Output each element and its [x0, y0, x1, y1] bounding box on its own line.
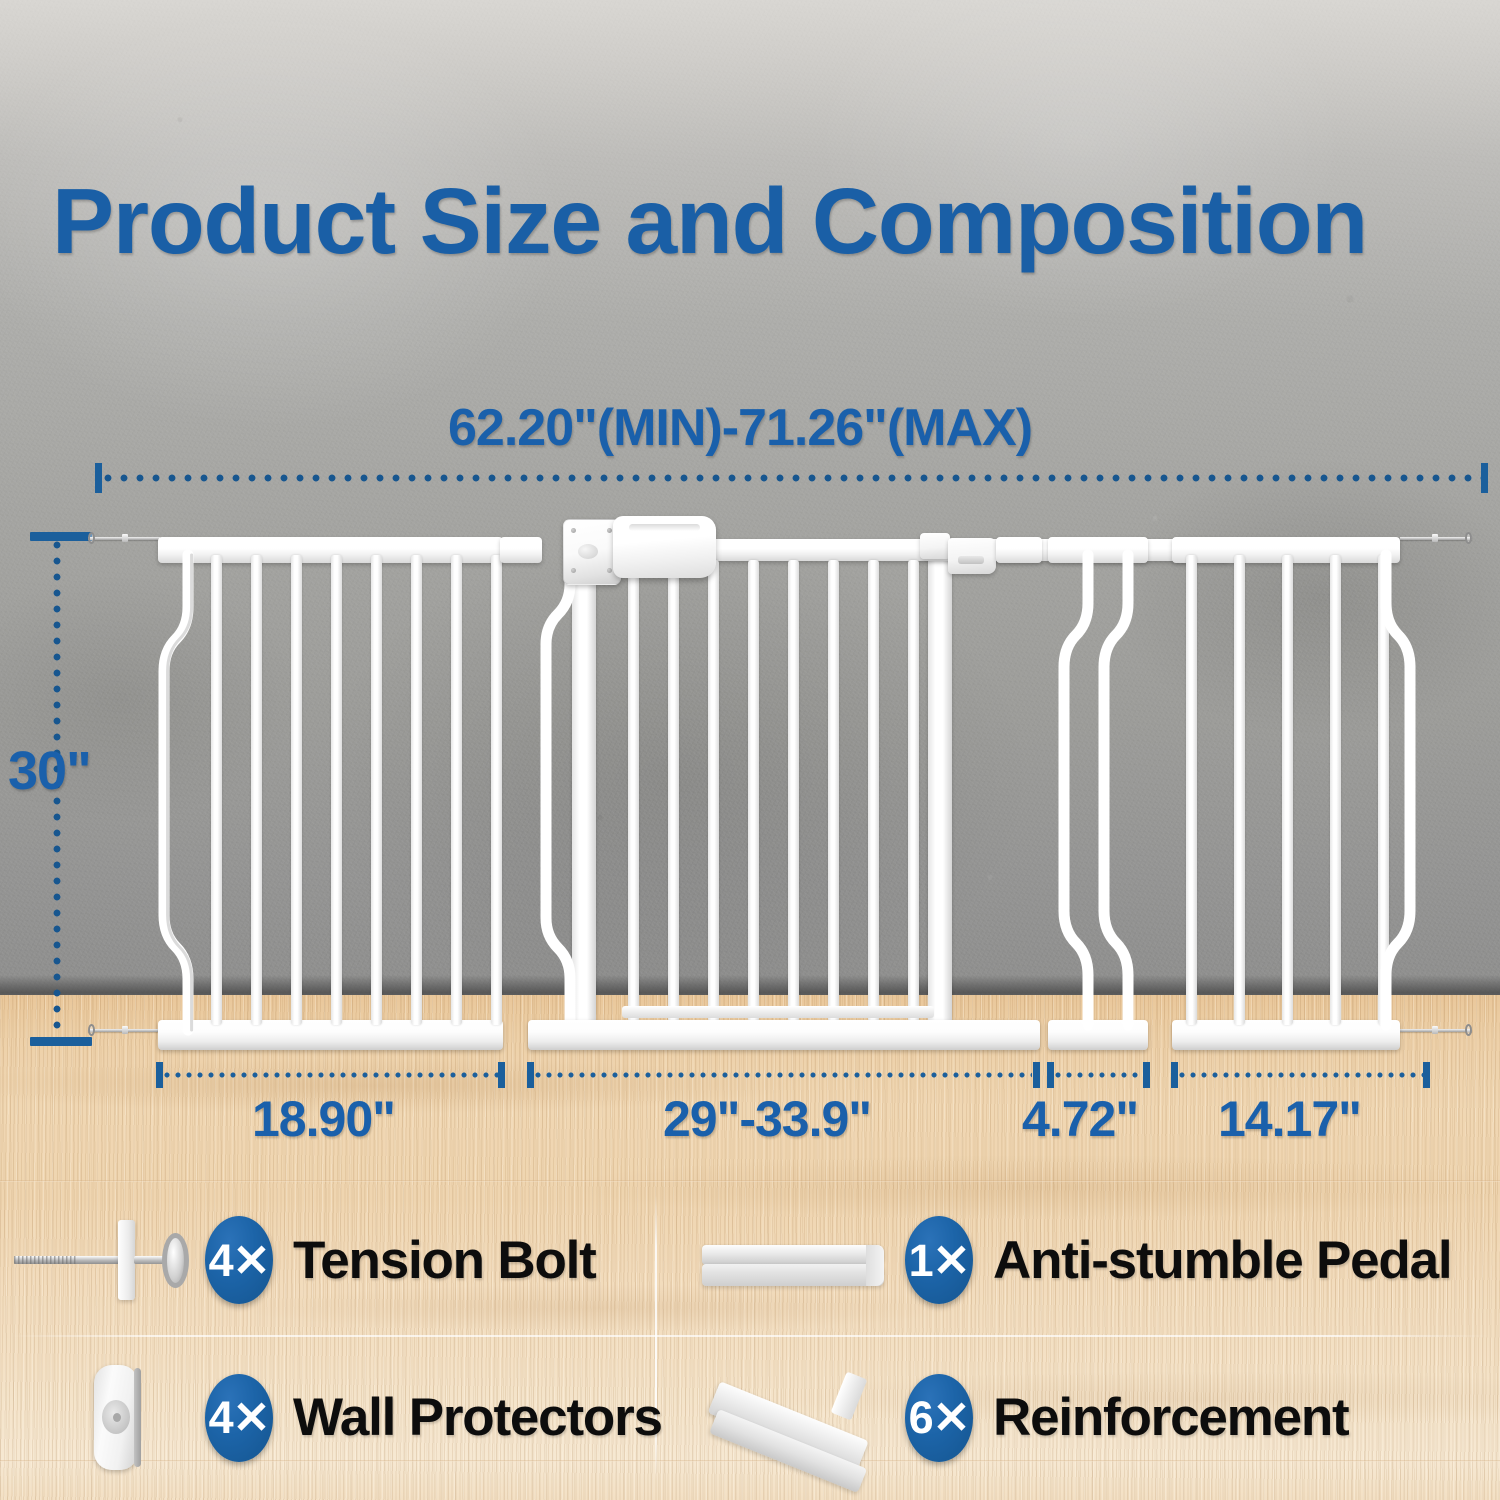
anti-stumble-pedal-icon	[690, 1215, 905, 1305]
seg3-endcap-left	[1047, 1062, 1054, 1088]
seg1-endcap-right	[498, 1062, 505, 1088]
tension-bolt-icon	[10, 1215, 205, 1305]
overall-width-dimension-line	[104, 474, 1484, 482]
seg3-label: 4.72"	[1022, 1090, 1138, 1148]
dim-endcap-left	[95, 463, 102, 493]
legend-item-reinforcement: 6✕ Reinforcement	[690, 1360, 1348, 1475]
wall-protector-icon	[10, 1360, 205, 1475]
seg2-endcap-right	[1033, 1062, 1040, 1088]
wall-protectors-quantity-badge: 4✕	[205, 1374, 273, 1462]
seg3-dimension-line	[1055, 1072, 1143, 1078]
seg2-dimension-line	[535, 1072, 1032, 1078]
reinforcement-label: Reinforcement	[993, 1387, 1348, 1448]
seg4-endcap-left	[1171, 1062, 1178, 1088]
wall-protectors-label: Wall Protectors	[293, 1387, 662, 1448]
seg2-endcap-left	[527, 1062, 534, 1088]
anti-stumble-pedal-quantity-badge: 1✕	[905, 1216, 973, 1304]
overall-width-label: 62.20"(MIN)-71.26"(MAX)	[448, 398, 1032, 458]
legend-item-anti-stumble-pedal: 1✕ Anti-stumble Pedal	[690, 1215, 1451, 1305]
height-dim-endcap-top	[30, 532, 92, 541]
reinforcement-icon	[690, 1360, 905, 1475]
reinforcement-quantity-badge: 6✕	[905, 1374, 973, 1462]
seg1-label: 18.90"	[252, 1090, 395, 1148]
tension-bolt-quantity-badge: 4✕	[205, 1216, 273, 1304]
seg1-endcap-left	[156, 1062, 163, 1088]
legend-item-wall-protectors: 4✕ Wall Protectors	[10, 1360, 662, 1475]
wall-floor-shadow-line	[0, 975, 1500, 997]
legend-horizontal-divider	[10, 1335, 1490, 1337]
height-label: 30"	[8, 740, 91, 802]
badge-text: 1✕	[909, 1234, 970, 1287]
seg4-endcap-right	[1423, 1062, 1430, 1088]
dim-endcap-right	[1481, 463, 1488, 493]
seg3-endcap-right	[1143, 1062, 1150, 1088]
page-title: Product Size and Composition	[52, 168, 1462, 275]
concrete-wall-background	[0, 0, 1500, 997]
badge-text: 4✕	[209, 1391, 270, 1444]
tension-bolt-label: Tension Bolt	[293, 1230, 596, 1291]
parts-legend: 4✕ Tension Bolt 1✕ Anti-stumble Pedal	[0, 1185, 1500, 1500]
seg2-label: 29"-33.9"	[663, 1090, 871, 1148]
height-dim-endcap-bottom	[30, 1037, 92, 1046]
legend-item-tension-bolt: 4✕ Tension Bolt	[10, 1215, 596, 1305]
badge-text: 4✕	[209, 1234, 270, 1287]
seg4-label: 14.17"	[1218, 1090, 1361, 1148]
badge-text: 6✕	[909, 1391, 970, 1444]
anti-stumble-pedal-label: Anti-stumble Pedal	[993, 1230, 1451, 1291]
seg4-dimension-line	[1179, 1072, 1423, 1078]
seg1-dimension-line	[164, 1072, 498, 1078]
infographic-canvas: Product Size and Composition 62.20"(MIN)…	[0, 0, 1500, 1500]
